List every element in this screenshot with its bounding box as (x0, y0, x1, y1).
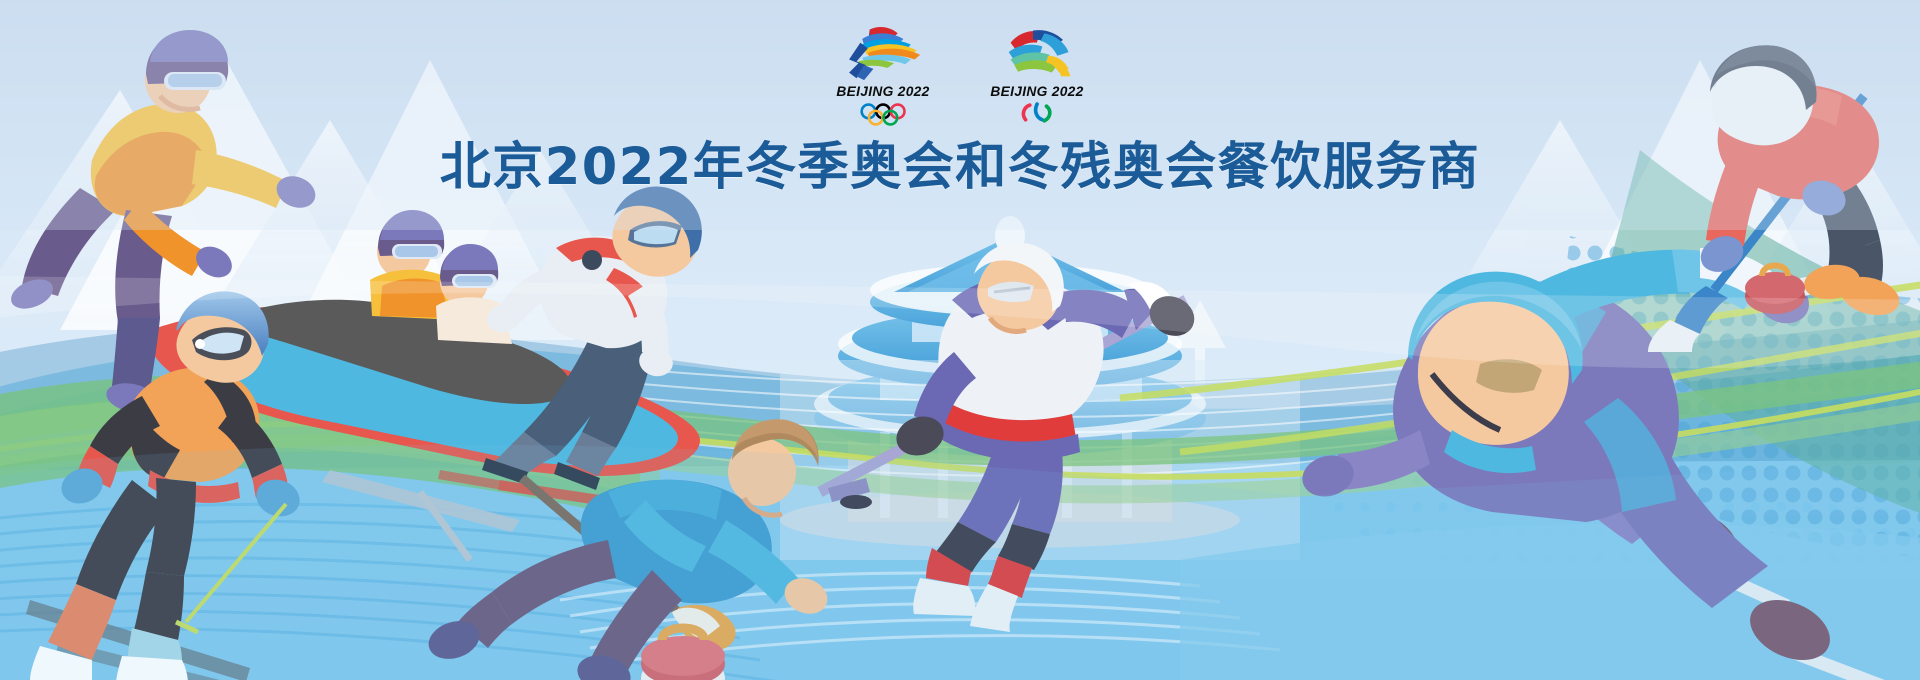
paralympic-wordmark: BEIJING 2022 (980, 84, 1094, 99)
winter-sports-illustration (0, 0, 1920, 680)
paralympic-agitos (1011, 102, 1063, 126)
olympic-rings (857, 102, 909, 126)
olympic-wordmark: BEIJING 2022 (826, 84, 940, 99)
olympic-emblem: BEIJING 2022 (827, 24, 939, 126)
olympics-catering-banner: BEIJING 2022 (0, 0, 1920, 680)
beijing-2022-winter-paralympics-emblem (990, 24, 1084, 82)
paralympic-emblem: BEIJING 2022 (981, 24, 1093, 126)
beijing-2022-winter-olympics-emblem (836, 24, 930, 82)
